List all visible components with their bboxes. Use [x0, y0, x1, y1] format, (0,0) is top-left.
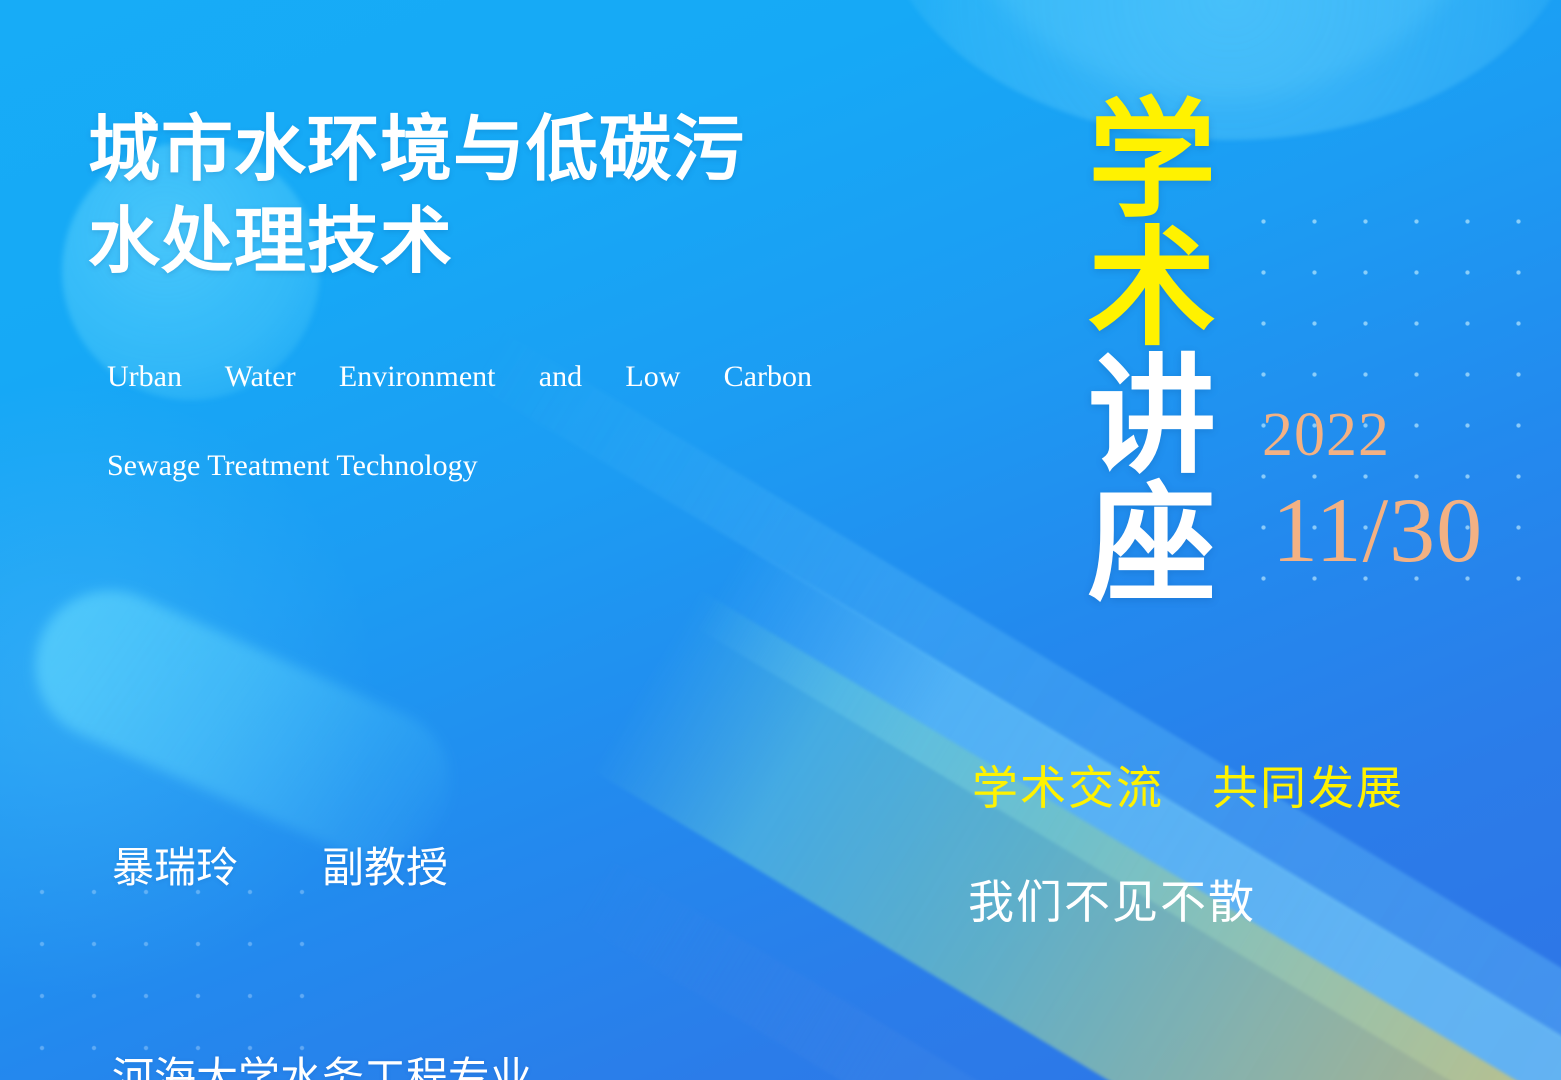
vertical-headline: 学术讲座: [1074, 92, 1205, 604]
tagline-primary: 学术交流 共同发展: [972, 752, 1404, 818]
event-year: 2022: [1262, 404, 1390, 466]
title-line-2: 水处理技术: [88, 196, 888, 288]
top-ellipse-glow: [880, 0, 1561, 140]
tagline-secondary: 我们不见不散: [968, 866, 1256, 932]
presenter-affiliation: 河海大学水务工程专业: [112, 1043, 832, 1080]
vertical-headline-white: 讲座: [1069, 348, 1212, 604]
subtitle-line-1: Urban Water Environment and Low Carbon: [107, 355, 812, 444]
event-date: 11/30: [1272, 484, 1483, 576]
subtitle-line-2: Sewage Treatment Technology: [107, 444, 812, 488]
title-line-1: 城市水环境与低碳污: [88, 104, 888, 196]
poster-canvas: 城市水环境与低碳污 水处理技术 Urban Water Environment …: [0, 0, 1561, 1080]
poster-title: 城市水环境与低碳污 水处理技术: [88, 104, 888, 288]
poster-subtitle: Urban Water Environment and Low Carbon S…: [107, 355, 812, 488]
presenter-name: 暴瑞玲 副教授: [112, 833, 832, 903]
presenter-details: 暴瑞玲 副教授 河海大学水务工程专业 时间：20：00—21：00 腾讯会议：4…: [112, 694, 832, 1080]
vertical-headline-yellow: 学术: [1069, 92, 1212, 348]
